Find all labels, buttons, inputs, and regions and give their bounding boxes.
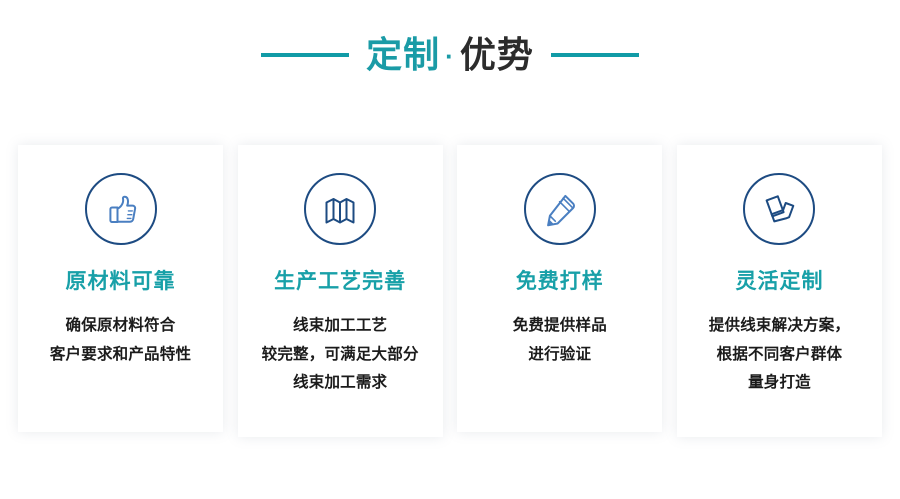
section-title-separator-dot: · bbox=[445, 43, 455, 69]
feature-card[interactable]: 灵活定制 提供线束解决方案， 根据不同客户群体 量身打造 bbox=[677, 145, 882, 437]
stacked-cards-icon bbox=[743, 173, 815, 245]
feature-card-body-line: 确保原材料符合 bbox=[50, 312, 191, 341]
feature-card-title: 原材料可靠 bbox=[66, 271, 176, 292]
feature-card[interactable]: 免费打样 免费提供样品 进行验证 bbox=[457, 145, 662, 432]
feature-card-title: 灵活定制 bbox=[735, 271, 823, 292]
pencil-icon bbox=[524, 173, 596, 245]
feature-card-body-line: 提供线束解决方案， bbox=[709, 312, 850, 341]
feature-card-body-line: 进行验证 bbox=[513, 341, 607, 370]
feature-card[interactable]: 生产工艺完善 线束加工工艺 较完整，可满足大部分 线束加工需求 bbox=[238, 145, 443, 437]
folded-map-icon bbox=[304, 173, 376, 245]
feature-card-body-line: 较完整，可满足大部分 bbox=[262, 341, 419, 370]
feature-card[interactable]: 原材料可靠 确保原材料符合 客户要求和产品特性 bbox=[18, 145, 223, 432]
section-title-primary: 定制 bbox=[366, 37, 440, 73]
section-title: 定制 · 优势 bbox=[366, 37, 534, 73]
feature-card-body: 线束加工工艺 较完整，可满足大部分 线束加工需求 bbox=[262, 312, 419, 398]
feature-card-body: 免费提供样品 进行验证 bbox=[513, 312, 607, 369]
section-title-secondary: 优势 bbox=[460, 37, 534, 73]
feature-card-body-line: 线束加工工艺 bbox=[262, 312, 419, 341]
feature-card-body: 确保原材料符合 客户要求和产品特性 bbox=[50, 312, 191, 369]
thumbs-up-icon bbox=[85, 173, 157, 245]
feature-card-body-line: 量身打造 bbox=[709, 369, 850, 398]
feature-card-body-line: 线束加工需求 bbox=[262, 369, 419, 398]
title-rule-right bbox=[551, 53, 639, 57]
feature-card-body-line: 根据不同客户群体 bbox=[709, 341, 850, 370]
section-header: 定制 · 优势 bbox=[0, 0, 900, 110]
feature-card-body: 提供线束解决方案， 根据不同客户群体 量身打造 bbox=[709, 312, 850, 398]
title-rule-left bbox=[261, 53, 349, 57]
feature-card-title: 免费打样 bbox=[516, 271, 604, 292]
feature-card-title: 生产工艺完善 bbox=[274, 271, 406, 292]
feature-card-body-line: 客户要求和产品特性 bbox=[50, 341, 191, 370]
feature-cards-row: 原材料可靠 确保原材料符合 客户要求和产品特性 生产工艺完善 线束加工工艺 较完… bbox=[18, 145, 882, 437]
feature-card-body-line: 免费提供样品 bbox=[513, 312, 607, 341]
